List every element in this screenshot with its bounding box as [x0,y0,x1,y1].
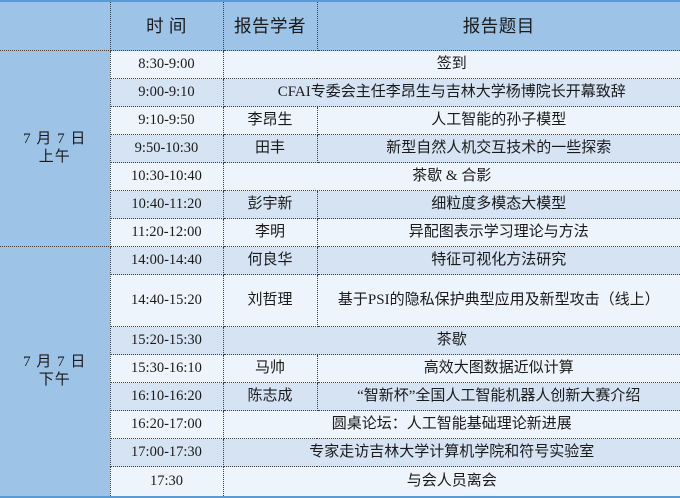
table-row: 7 月 7 日下午14:00-14:40何良华特征可视化方法研究 [0,247,680,275]
time-cell: 16:10-16:20 [110,383,223,411]
talk-title-cell: 高效大图数据近似计算 [317,355,680,383]
header-time: 时 间 [110,1,223,51]
header-spacer-cell [0,1,110,51]
session-title-cell-merged: 圆桌论坛：人工智能基础理论新进展 [223,411,680,439]
talk-title-cell: 基于PSI的隐私保护典型应用及新型攻击（线上） [317,275,680,327]
header-speaker: 报告学者 [223,1,317,51]
time-cell: 17:30 [110,467,223,498]
time-cell: 9:10-9:50 [110,107,223,135]
session-date-cell: 7 月 7 日上午 [0,51,110,247]
session-date-line1: 7 月 7 日 [4,354,106,372]
speaker-cell: 李昂生 [223,107,317,135]
speaker-cell: 何良华 [223,247,317,275]
speaker-cell: 李明 [223,219,317,247]
speaker-cell: 陈志成 [223,383,317,411]
time-cell: 10:40-11:20 [110,191,223,219]
header-row: 时 间 报告学者 报告题目 [0,1,680,51]
session-date-line2: 上午 [4,149,106,167]
speaker-cell: 彭宇新 [223,191,317,219]
time-cell: 10:30-10:40 [110,163,223,191]
time-cell: 17:00-17:30 [110,439,223,467]
speaker-cell: 田丰 [223,135,317,163]
talk-title-cell: 异配图表示学习理论与方法 [317,219,680,247]
speaker-cell: 刘哲理 [223,275,317,327]
table-header: 时 间 报告学者 报告题目 [0,1,680,51]
talk-title-cell: 细粒度多模态大模型 [317,191,680,219]
time-cell: 8:30-9:00 [110,51,223,79]
talk-title-cell: “智新杯”全国人工智能机器人创新大赛介绍 [317,383,680,411]
time-cell: 16:20-17:00 [110,411,223,439]
session-title-cell-merged: 专家走访吉林大学计算机学院和符号实验室 [223,439,680,467]
time-cell: 15:20-15:30 [110,327,223,355]
table-body: 7 月 7 日上午8:30-9:00签到9:00-9:10CFAI专委会主任李昂… [0,51,680,498]
time-cell: 14:00-14:40 [110,247,223,275]
header-title: 报告题目 [317,1,680,51]
conference-schedule-table: 时 间 报告学者 报告题目 7 月 7 日上午8:30-9:00签到9:00-9… [0,0,680,498]
talk-title-cell: 人工智能的孙子模型 [317,107,680,135]
time-cell: 11:20-12:00 [110,219,223,247]
talk-title-cell: 新型自然人机交互技术的一些探索 [317,135,680,163]
table-row: 7 月 7 日上午8:30-9:00签到 [0,51,680,79]
time-cell: 15:30-16:10 [110,355,223,383]
time-cell: 9:50-10:30 [110,135,223,163]
session-title-cell-merged: 茶歇 [223,327,680,355]
talk-title-cell: 特征可视化方法研究 [317,247,680,275]
time-cell: 14:40-15:20 [110,275,223,327]
session-date-line2: 下午 [4,372,106,390]
time-cell: 9:00-9:10 [110,79,223,107]
session-title-cell-merged: 签到 [223,51,680,79]
speaker-cell: 马帅 [223,355,317,383]
session-date-cell: 7 月 7 日下午 [0,247,110,498]
session-title-cell-merged: CFAI专委会主任李昂生与吉林大学杨博院长开幕致辞 [223,79,680,107]
session-date-line1: 7 月 7 日 [4,131,106,149]
session-title-cell-merged: 茶歇 & 合影 [223,163,680,191]
session-title-cell-merged: 与会人员离会 [223,467,680,498]
